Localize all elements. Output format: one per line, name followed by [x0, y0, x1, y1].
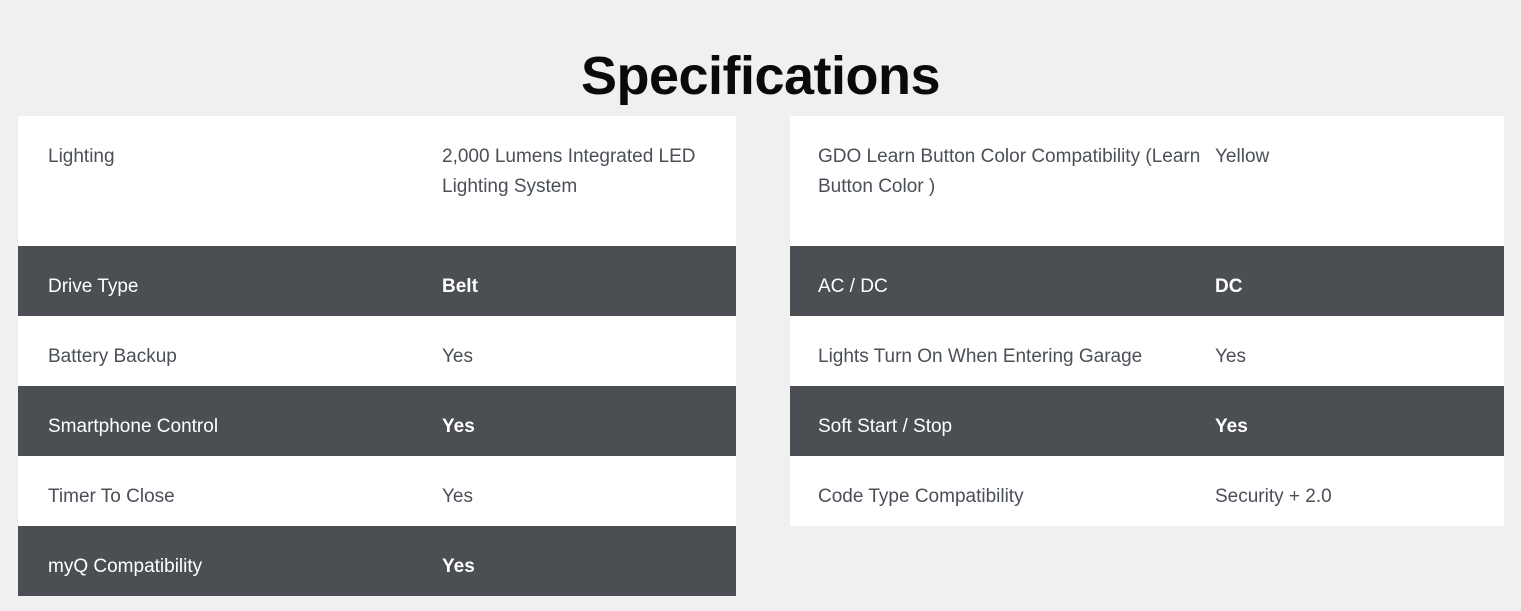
- spec-row: Smartphone ControlYes: [18, 386, 736, 456]
- spec-row: GDO Learn Button Color Compatibility (Le…: [790, 116, 1504, 246]
- spec-label: Smartphone Control: [18, 412, 442, 442]
- spec-row: AC / DCDC: [790, 246, 1504, 316]
- spec-value: Yes: [442, 412, 736, 442]
- specifications-table-left: Lighting2,000 Lumens Integrated LED Ligh…: [18, 116, 736, 596]
- spec-row: Lights Turn On When Entering GarageYes: [790, 316, 1504, 386]
- spec-label: Timer To Close: [18, 482, 442, 512]
- spec-row: Lighting2,000 Lumens Integrated LED Ligh…: [18, 116, 736, 246]
- page-title: Specifications: [0, 40, 1521, 112]
- specifications-columns: Lighting2,000 Lumens Integrated LED Ligh…: [0, 116, 1521, 596]
- spec-label: Battery Backup: [18, 342, 442, 372]
- spec-label: Soft Start / Stop: [790, 412, 1215, 442]
- spec-value: Yellow: [1215, 142, 1504, 172]
- spec-row: Battery BackupYes: [18, 316, 736, 386]
- spec-row: Soft Start / StopYes: [790, 386, 1504, 456]
- specifications-page: Specifications Lighting2,000 Lumens Inte…: [0, 0, 1521, 611]
- spec-label: Drive Type: [18, 272, 442, 302]
- spec-label: myQ Compatibility: [18, 552, 442, 582]
- spec-value: 2,000 Lumens Integrated LED Lighting Sys…: [442, 142, 736, 202]
- spec-row: myQ CompatibilityYes: [18, 526, 736, 596]
- spec-label: Lighting: [18, 142, 442, 172]
- spec-value: Yes: [1215, 342, 1504, 372]
- spec-row: Timer To CloseYes: [18, 456, 736, 526]
- spec-value: Yes: [1215, 412, 1504, 442]
- spec-label: Code Type Compatibility: [790, 482, 1215, 512]
- spec-value: Belt: [442, 272, 736, 302]
- spec-label: Lights Turn On When Entering Garage: [790, 342, 1215, 372]
- specifications-table-right: GDO Learn Button Color Compatibility (Le…: [790, 116, 1504, 526]
- spec-value: Yes: [442, 342, 736, 372]
- spec-value: Yes: [442, 482, 736, 512]
- spec-label: GDO Learn Button Color Compatibility (Le…: [790, 142, 1215, 202]
- spec-row: Drive TypeBelt: [18, 246, 736, 316]
- spec-value: Security + 2.0: [1215, 482, 1504, 512]
- spec-label: AC / DC: [790, 272, 1215, 302]
- spec-value: DC: [1215, 272, 1504, 302]
- spec-row: Code Type CompatibilitySecurity + 2.0: [790, 456, 1504, 526]
- spec-value: Yes: [442, 552, 736, 582]
